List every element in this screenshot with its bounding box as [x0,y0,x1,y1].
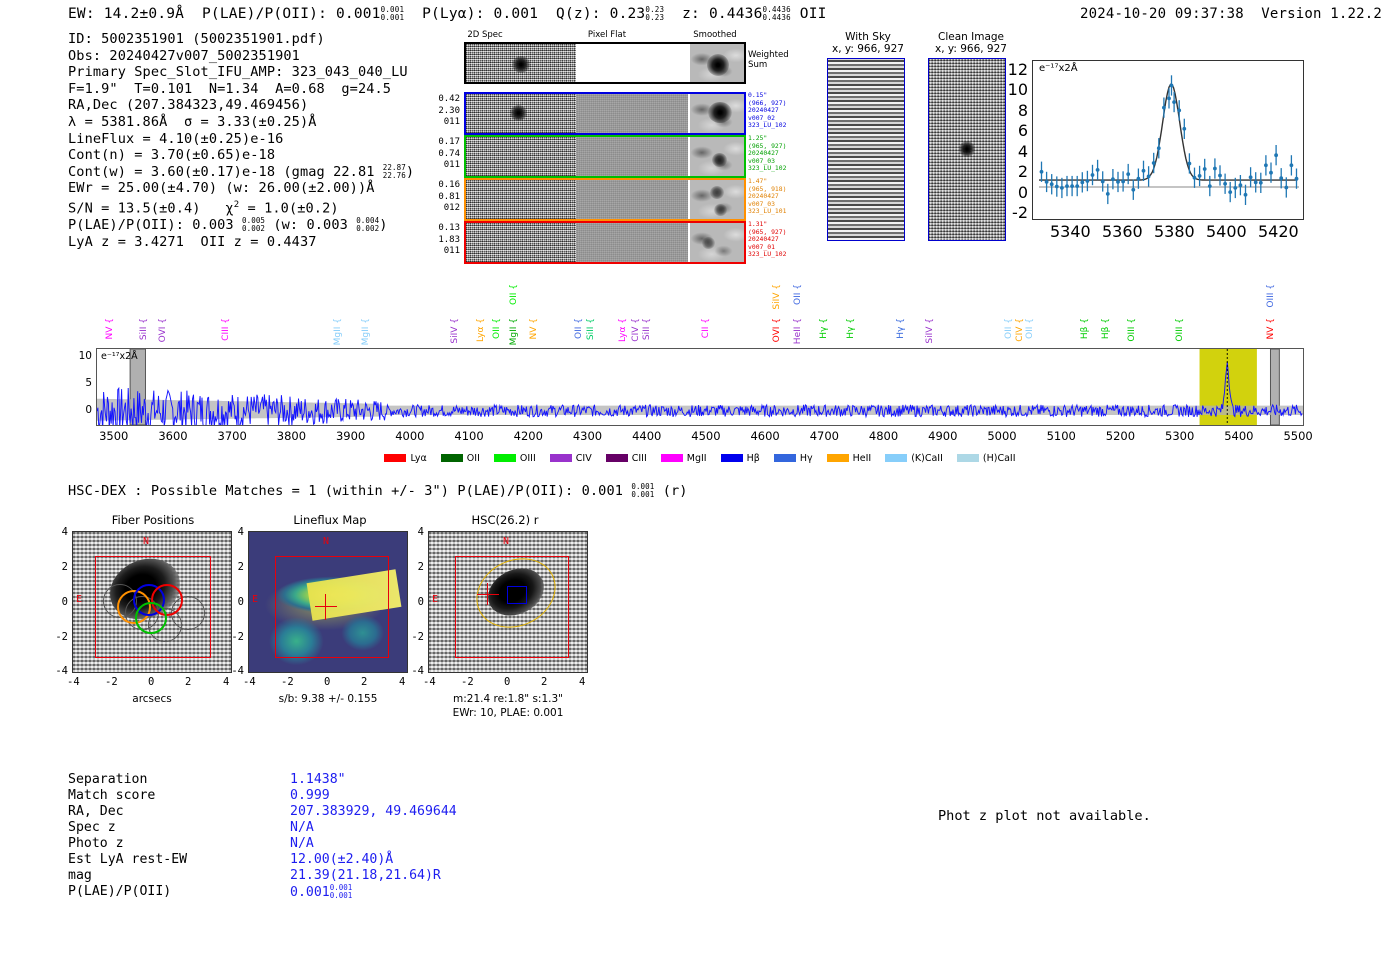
row-val-mag: 21.39(21.18,21.64)R [290,868,441,883]
zoom-y-axis: 12 10 8 6 4 2 0 -2 [1000,60,1032,220]
legend-label: CIII [632,453,647,464]
fullspec-ytick-10: 10 [79,350,92,362]
emission-line-label: SiIV { [925,318,935,344]
fullspec-xtick-3700: 3700 [214,429,250,443]
fullspec-xtick-4400: 4400 [629,429,665,443]
east-marker-hsc: E [432,594,438,605]
fullspec-xtick-4900: 4900 [925,429,961,443]
fiber-row-3-tag: 1.47" (965, 918) 20240427 v007_03 323_LU… [748,178,786,216]
emission-line-label: OVI { [158,318,168,342]
legend-swatch [494,454,516,462]
fullspec-ytick-0: 0 [85,404,92,416]
legend-label: Lyα [410,453,426,464]
legend-swatch [441,454,463,462]
row-key-match-score: Match score [68,788,155,803]
emission-line-label: OII { [509,284,519,305]
fullspec-xtick-5400: 5400 [1221,429,1257,443]
east-marker-fiber: E [76,594,82,605]
emission-line-label: OII { [574,318,584,339]
plae-value: 0.001 [336,6,381,22]
panel-title-lineflux-map: Lineflux Map [245,513,415,527]
info-ewr: EWr = 25.00(±4.70) (w: 26.00(±2.00))Å [68,180,414,197]
fullspec-units-label: e⁻¹⁷x2Å [101,351,138,362]
info-snr: S/N = 13.5(±0.4) χ2 = 1.0(±0.2) [68,197,414,217]
legend-item-mgii: MgII [661,453,707,464]
fiber-y-axis: 4 2 0 -2 -4 [46,531,70,673]
col-header-pixelflat: Pixel Flat [552,30,662,40]
north-marker-fiber: N [143,536,149,547]
emission-line-label: CII { [701,318,711,338]
emission-line-label: OII { [793,284,803,305]
legend-swatch [957,454,979,462]
legend-swatch [661,454,683,462]
fullspec-xtick-4500: 4500 [688,429,724,443]
fiber-row-3 [464,178,746,221]
photz-note: Phot z plot not available. [938,808,1151,824]
zoom-ytick-10: 10 [1008,80,1028,99]
fiber-row-1-tag: 0.15" (966, 927) 20240427 v007_02 323_LU… [748,92,786,130]
emission-line-label: SiII { [586,318,596,340]
legend-label: OII [467,453,480,464]
lineflux-map-image[interactable]: N E [248,531,408,673]
zoom-ytick-neg2: -2 [1012,203,1028,222]
emission-line-label: MgII { [509,318,519,345]
emission-line-label: MgII { [361,318,371,345]
fullspec-x-axis: 3500360037003800390040004100420043004400… [0,429,1400,447]
fiber-row-4-tag: 1.31" (965, 927) 20240427 v007_01 323_LU… [748,221,786,259]
with-sky-title: With Sky x, y: 966, 927 [820,31,916,55]
ew-value: 14.2±0.9Å [104,6,184,22]
info-obs: Obs: 20240427v007_5002351901 [68,48,414,65]
qz-value: 0.23 [610,6,646,22]
legend-label: (H)CaII [983,453,1016,464]
fullspec-xtick-3900: 3900 [333,429,369,443]
legend-swatch [384,454,406,462]
match-prefix: HSC-DEX : Possible Matches = 1 (within +… [68,483,631,499]
fullspec-xtick-4000: 4000 [392,429,428,443]
with-sky-coords: x, y: 966, 927 [820,43,916,55]
emission-line-label: Lyα { [476,318,486,342]
fiber-row-2-tag: 1.25" (965, 927) 20240427 v007_03 323_LU… [748,135,786,173]
row-val-spec-z: N/A [290,820,314,835]
emission-line-label: OIII { [1175,318,1185,342]
emission-line-label: NV { [1266,318,1276,339]
fullspec-xtick-4300: 4300 [569,429,605,443]
info-radec: RA,Dec (207.384323,49.469456) [68,97,414,114]
info-primary-spec: Primary Spec_Slot_IFU_AMP: 323_043_040_L… [68,64,414,81]
zoom-ytick-12: 12 [1008,60,1028,79]
emission-line-label: Hγ { [819,318,829,339]
legend-label: MgII [687,453,707,464]
bottom-plae-range: 0.0010.001 [330,884,353,900]
header-timestamp-version: 2024-10-20 09:37:38 Version 1.22.2 [1080,6,1382,22]
row-key-est-lya-ew: Est LyA rest-EW [68,852,187,867]
fullspec-xtick-5500: 5500 [1280,429,1316,443]
zoom-xtick-5340: 5340 [1050,222,1091,241]
legend-item-oiii: OIII [494,453,536,464]
fullspec-xtick-3500: 3500 [96,429,132,443]
fullspec-xtick-5100: 5100 [1043,429,1079,443]
hsc-caption-2: EWr: 10, PLAE: 0.001 [418,707,598,720]
match-suffix: (r) [654,483,687,499]
full-spectrum-svg [97,349,1303,425]
clean-image-label: Clean Image [920,31,1022,43]
legend-item-oii: OII [441,453,480,464]
plya-value: 0.001 [494,6,539,22]
fullspec-xtick-5300: 5300 [1162,429,1198,443]
col-header-smoothed: Smoothed [670,30,760,40]
fullspec-xtick-5200: 5200 [1102,429,1138,443]
info-lambda: λ = 5381.86Å σ = 3.33(±0.25)Å [68,114,414,131]
lineflux-y-axis: 4 2 0 -2 -4 [222,531,246,673]
fiber-row-1 [464,92,746,135]
info-lineflux: LineFlux = 4.10(±0.25)e-16 [68,131,414,148]
emission-line-label: SiII { [139,318,149,340]
info-seeing: F=1.9" T=0.101 N=1.34 A=0.68 g=24.5 [68,81,414,98]
fiber-row-4-values: 0.13 1.83 011 [416,223,460,258]
fiber-row-1-values: 0.42 2.30 011 [416,94,460,129]
fiber-row-2-values: 0.17 0.74 011 [416,137,460,172]
zoom-xtick-5360: 5360 [1102,222,1143,241]
legend-item-hcaii: (H)CaII [957,453,1016,464]
version-label: Version 1.22.2 [1261,6,1382,22]
fullspec-xtick-4200: 4200 [510,429,546,443]
plae-range-1: 0.0050.002 [242,217,265,233]
weighted-sum-label: Weighted Sum [748,50,789,70]
z-value: 0.4436 [709,6,763,22]
info-id: ID: 5002351901 (5002351901.pdf) [68,31,414,48]
zoom-spectrum-svg [1033,61,1303,219]
emission-line-label: Hγ { [846,318,856,339]
panel-title-hsc-r: HSC(26.2) r [420,513,590,527]
z-range: 0.44360.4436 [763,6,791,22]
qz-label: Q(z): [556,6,601,22]
plae-range: 0.0010.001 [381,6,405,22]
legend-item-hγ: Hγ [774,453,813,464]
legend-swatch [550,454,572,462]
emission-line-label: SiIV { [772,284,782,310]
emission-line-label: OVI { [772,318,782,342]
emission-line-label: OII { [1025,318,1035,339]
plya-label: P(Lyα): [422,6,485,22]
header-summary-line: EW: 14.2±0.9Å P(LAE)/P(OII): 0.0010.0010… [68,6,827,22]
zoom-xtick-5420: 5420 [1258,222,1299,241]
emission-line-label: CIV { [1015,318,1025,342]
with-sky-image [827,58,905,241]
emission-line-label: OIII { [1266,284,1276,308]
twod-spec-panel: 2D Spec Pixel Flat Smoothed Weighted Sum… [430,30,760,265]
zoom-ytick-8: 8 [1018,101,1028,120]
gmag-range: 22.8722.76 [383,164,406,180]
fiber-x-axis: -4 -2 0 2 4 [72,676,232,690]
row-val-est-lya-ew: 12.00(±2.40)Å [290,852,393,867]
east-marker-lineflux: E [252,594,258,605]
zoom-spectrum-plot: e⁻¹⁷x2Å [1032,60,1304,220]
legend-swatch [774,454,796,462]
lineflux-x-axis: -4 -2 0 2 4 [248,676,408,690]
emission-line-label: OIII { [1127,318,1137,342]
emission-line-label: HeII { [793,318,803,344]
z-species: OII [800,6,827,22]
clean-image-coords: x, y: 966, 927 [920,43,1022,55]
emission-line-label: OII { [1004,318,1014,339]
fiber-row-3-values: 0.16 0.81 012 [416,180,460,215]
emission-line-labels: NV {SiII {OVI {CIII {MgII {MgII {SiIV {L… [0,278,1400,350]
emission-line-label: Hβ { [1101,318,1111,339]
info-redshifts: LyA z = 3.4271 OII z = 0.4437 [68,234,414,251]
emission-line-label: MgII { [333,318,343,345]
legend-item-hβ: Hβ [721,453,760,464]
col-header-2dspec: 2D Spec [430,30,540,40]
legend-item-ciii: CIII [606,453,647,464]
row-key-spec-z: Spec z [68,820,116,835]
qz-range: 0.230.23 [645,6,664,22]
row-val-plae: 0.0010.0010.001 [290,884,352,900]
fullspec-xtick-5000: 5000 [984,429,1020,443]
hsc-dex-match-header: HSC-DEX : Possible Matches = 1 (within +… [68,483,688,499]
legend-swatch [885,454,907,462]
emission-line-label: SiIV { [450,318,460,344]
zoom-xtick-5380: 5380 [1154,222,1195,241]
fullspec-ytick-5: 5 [85,377,92,389]
fullspec-xtick-3800: 3800 [273,429,309,443]
z-label: z: [682,6,700,22]
emission-line-label: Hβ { [1080,318,1090,339]
legend-swatch [606,454,628,462]
fullspec-xtick-4600: 4600 [747,429,783,443]
row-key-plae: P(LAE)/P(OII) [68,884,171,899]
fiber-caption: arcsecs [72,693,232,706]
hsc-y-axis: 4 2 0 -2 -4 [402,531,426,673]
weighted-sum-row [464,42,746,84]
fiber-positions-image[interactable]: N E [72,531,232,673]
spectrum-legend: LyαOIIOIIICIVCIIIMgIIHβHγHeII(K)CaII(H)C… [0,453,1400,464]
hsc-caption-1: m:21.4 re:1.8" s:1.3" [418,693,598,706]
hsc-r-image[interactable]: N E [428,531,588,673]
row-key-radec: RA, Dec [68,804,124,819]
info-cont-n: Cont(n) = 3.70(±0.65)e-18 [68,147,414,164]
zoom-x-axis: 5340 5360 5380 5400 5420 [1032,222,1304,240]
emission-line-label: NV { [529,318,539,339]
source-info-block: ID: 5002351901 (5002351901.pdf) Obs: 202… [68,31,414,250]
row-val-match-score: 0.999 [290,788,330,803]
legend-swatch [827,454,849,462]
fullspec-y-axis: 10 5 0 [70,350,94,426]
full-spectrum-plot: e⁻¹⁷x2Å [96,348,1304,426]
legend-item-heii: HeII [827,453,872,464]
clean-image [928,58,1006,241]
legend-label: Hβ [747,453,760,464]
legend-label: HeII [853,453,872,464]
info-cont-w: Cont(w) = 3.60(±0.17)e-18 (gmag 22.81 22… [68,164,414,181]
fullspec-xtick-4100: 4100 [451,429,487,443]
plae-label: P(LAE)/P(OII): [202,6,327,22]
lineflux-caption: s/b: 9.38 +/- 0.155 [238,693,418,706]
row-val-photo-z: N/A [290,836,314,851]
with-sky-label: With Sky [820,31,916,43]
ew-label: EW: [68,6,95,22]
emission-line-label: OII { [492,318,502,339]
fullspec-xtick-4800: 4800 [866,429,902,443]
row-key-mag: mag [68,868,92,883]
zoom-ytick-4: 4 [1018,142,1028,161]
legend-item-kcaii: (K)CaII [885,453,943,464]
zoom-ytick-6: 6 [1018,121,1028,140]
fiber-row-4 [464,221,746,264]
north-marker-hsc: N [503,536,509,547]
row-key-separation: Separation [68,772,147,787]
fullspec-xtick-3600: 3600 [155,429,191,443]
fullspec-xtick-4700: 4700 [806,429,842,443]
legend-label: Hγ [800,453,813,464]
legend-swatch [721,454,743,462]
row-val-separation: 1.1438" [290,772,346,787]
emission-line-label: Hγ { [896,318,906,339]
zoom-ytick-2: 2 [1018,162,1028,181]
row-key-photo-z: Photo z [68,836,124,851]
panel-title-fiber-positions: Fiber Positions [68,513,238,527]
zoom-ytick-0: 0 [1018,183,1028,202]
legend-label: (K)CaII [911,453,943,464]
emission-line-label: CIII { [221,318,231,341]
emission-line-label: CIV { [631,318,641,342]
legend-label: OIII [520,453,536,464]
legend-item-civ: CIV [550,453,592,464]
row-val-radec: 207.383929, 49.469644 [290,804,457,819]
match-plae-range: 0.0010.001 [631,483,654,499]
legend-item-lyα: Lyα [384,453,426,464]
plae-range-2: 0.0040.002 [356,217,379,233]
info-plae: P(LAE)/P(OII): 0.003 0.0050.002 (w: 0.00… [68,217,414,234]
emission-line-label: Lyα { [618,318,628,342]
timestamp: 2024-10-20 09:37:38 [1080,6,1244,22]
hsc-x-axis: -4 -2 0 2 4 [428,676,588,690]
clean-image-title: Clean Image x, y: 966, 927 [920,31,1022,55]
fiber-row-2 [464,135,746,178]
zoom-xtick-5400: 5400 [1206,222,1247,241]
north-marker-lineflux: N [323,536,329,547]
emission-line-label: NV { [105,318,115,339]
emission-line-label: SiII { [642,318,652,340]
legend-label: CIV [576,453,592,464]
